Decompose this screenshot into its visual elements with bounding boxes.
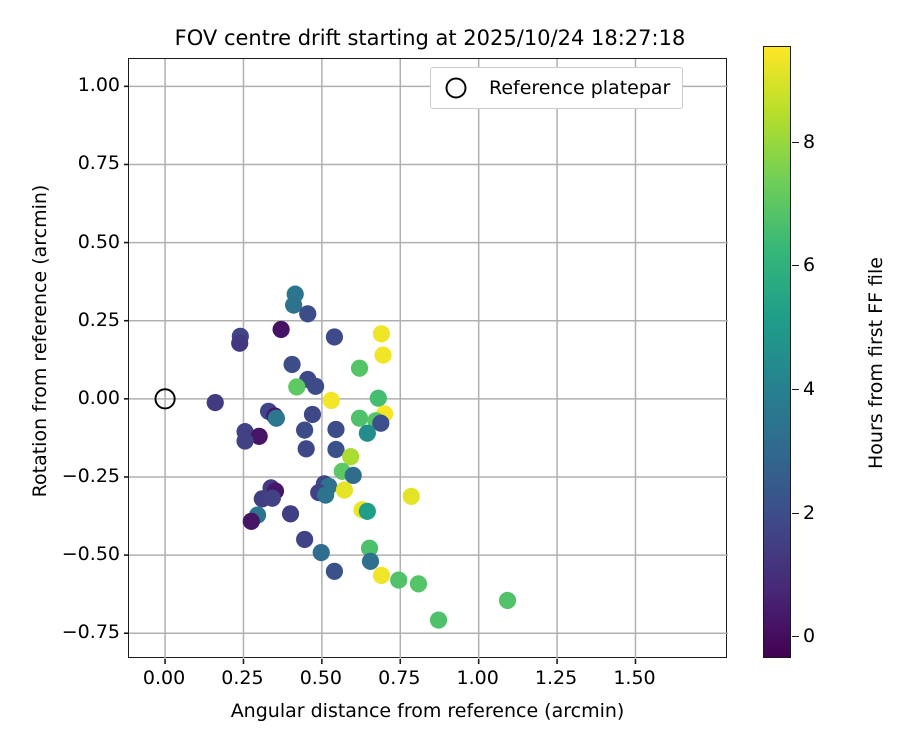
scatter-point xyxy=(342,448,359,465)
scatter-point xyxy=(327,441,344,458)
scatter-point xyxy=(299,305,316,322)
x-tick-label: 0.50 xyxy=(281,667,361,689)
colorbar-gradient xyxy=(764,47,790,657)
scatter-point xyxy=(403,488,420,505)
scatter-point xyxy=(345,467,362,484)
colorbar[interactable] xyxy=(763,46,791,658)
y-tick-label: 0.00 xyxy=(44,387,120,409)
scatter-point xyxy=(288,378,305,395)
scatter-point xyxy=(390,571,407,588)
scatter-point xyxy=(326,563,343,580)
y-tick-label: −0.75 xyxy=(44,621,120,643)
scatter-point xyxy=(243,513,260,530)
scatter-point xyxy=(373,567,390,584)
scatter-point xyxy=(359,503,376,520)
y-tick-label: 0.50 xyxy=(44,231,120,253)
x-axis-tick-labels: 0.000.250.500.751.001.251.50 xyxy=(128,667,727,697)
colorbar-tick-mark xyxy=(792,636,799,637)
x-tick-label: 0.25 xyxy=(202,667,282,689)
scatter-point xyxy=(268,410,285,427)
scatter-point xyxy=(499,592,516,609)
scatter-point xyxy=(317,486,334,503)
scatter-point xyxy=(296,531,313,548)
scatter-point xyxy=(374,346,391,363)
colorbar-tick-label: 4 xyxy=(803,378,815,400)
scatter-point xyxy=(323,392,340,409)
scatter-point xyxy=(327,421,344,438)
scatter-point xyxy=(430,611,447,628)
x-tick-label: 0.75 xyxy=(359,667,439,689)
scatter-point xyxy=(373,325,390,342)
scatter-point xyxy=(296,421,313,438)
scatter-point xyxy=(231,335,248,352)
legend-label: Reference platepar xyxy=(489,77,670,99)
legend-box[interactable]: Reference platepar xyxy=(430,67,683,109)
colorbar-tick-mark xyxy=(792,513,799,514)
scatter-point xyxy=(283,356,300,373)
scatter-point xyxy=(313,544,330,561)
scatter-point xyxy=(410,575,427,592)
x-tick-label: 1.00 xyxy=(438,667,518,689)
y-tick-label: 0.25 xyxy=(44,309,120,331)
colorbar-tick-mark xyxy=(792,265,799,266)
x-tick-label: 1.25 xyxy=(516,667,596,689)
scatter-point xyxy=(273,321,290,338)
y-tick-label: 0.75 xyxy=(44,152,120,174)
plot-area xyxy=(128,58,727,658)
scatter-point xyxy=(264,490,281,507)
figure-canvas: FOV centre drift starting at 2025/10/24 … xyxy=(0,0,900,750)
scatter-point xyxy=(362,553,379,570)
x-tick-label: 1.50 xyxy=(594,667,674,689)
colorbar-tick-label: 8 xyxy=(803,131,815,153)
scatter-point xyxy=(359,425,376,442)
x-axis-label: Angular distance from reference (arcmin) xyxy=(128,700,727,722)
scatter-point xyxy=(304,406,321,423)
y-axis-label: Rotation from reference (arcmin) xyxy=(29,101,51,581)
x-tick-label: 0.00 xyxy=(124,667,204,689)
open-circle-marker-icon xyxy=(441,75,471,101)
colorbar-tick-label: 0 xyxy=(803,625,815,647)
colorbar-tick-label: 2 xyxy=(803,502,815,524)
scatter-layer xyxy=(129,59,726,657)
scatter-point xyxy=(351,410,368,427)
scatter-point xyxy=(282,505,299,522)
scatter-point xyxy=(207,394,224,411)
chart-title: FOV centre drift starting at 2025/10/24 … xyxy=(0,26,860,50)
y-tick-label: −0.50 xyxy=(44,543,120,565)
colorbar-tick-mark xyxy=(792,389,799,390)
scatter-point xyxy=(298,440,315,457)
scatter-point xyxy=(236,432,253,449)
reference-platepar-marker xyxy=(155,389,174,408)
colorbar-tick-mark xyxy=(792,142,799,143)
scatter-point xyxy=(307,378,324,395)
colorbar-label: Hours from first FF file xyxy=(865,123,887,603)
scatter-point xyxy=(336,481,353,498)
scatter-point xyxy=(351,360,368,377)
y-tick-label: 1.00 xyxy=(44,74,120,96)
colorbar-tick-label: 6 xyxy=(803,254,815,276)
scatter-point xyxy=(326,328,343,345)
y-tick-label: −0.25 xyxy=(44,465,120,487)
scatter-point xyxy=(370,390,387,407)
